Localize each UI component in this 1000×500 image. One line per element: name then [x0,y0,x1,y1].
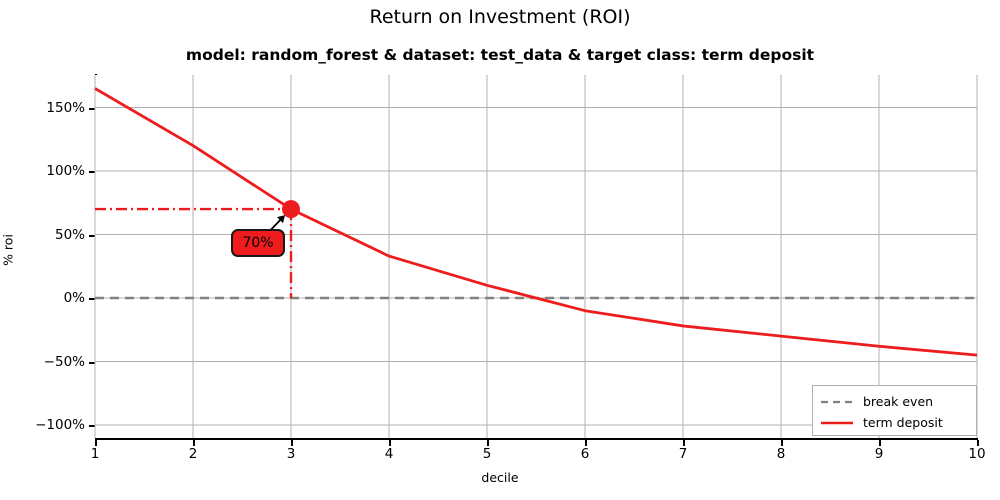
annotation-callout: 70% [231,229,285,257]
legend-label-term-deposit: term deposit [863,415,943,430]
annotation-label: 70% [242,235,273,251]
legend-item-term-deposit: term deposit [820,412,969,433]
legend-label-break-even: break even [863,394,933,409]
roi-chart-figure: Return on Investment (ROI) model: random… [0,0,1000,500]
legend-item-break-even: break even [820,391,969,412]
chart-legend: break even term deposit [812,385,977,436]
dashed-line-icon [820,396,854,408]
solid-line-icon [820,417,854,429]
